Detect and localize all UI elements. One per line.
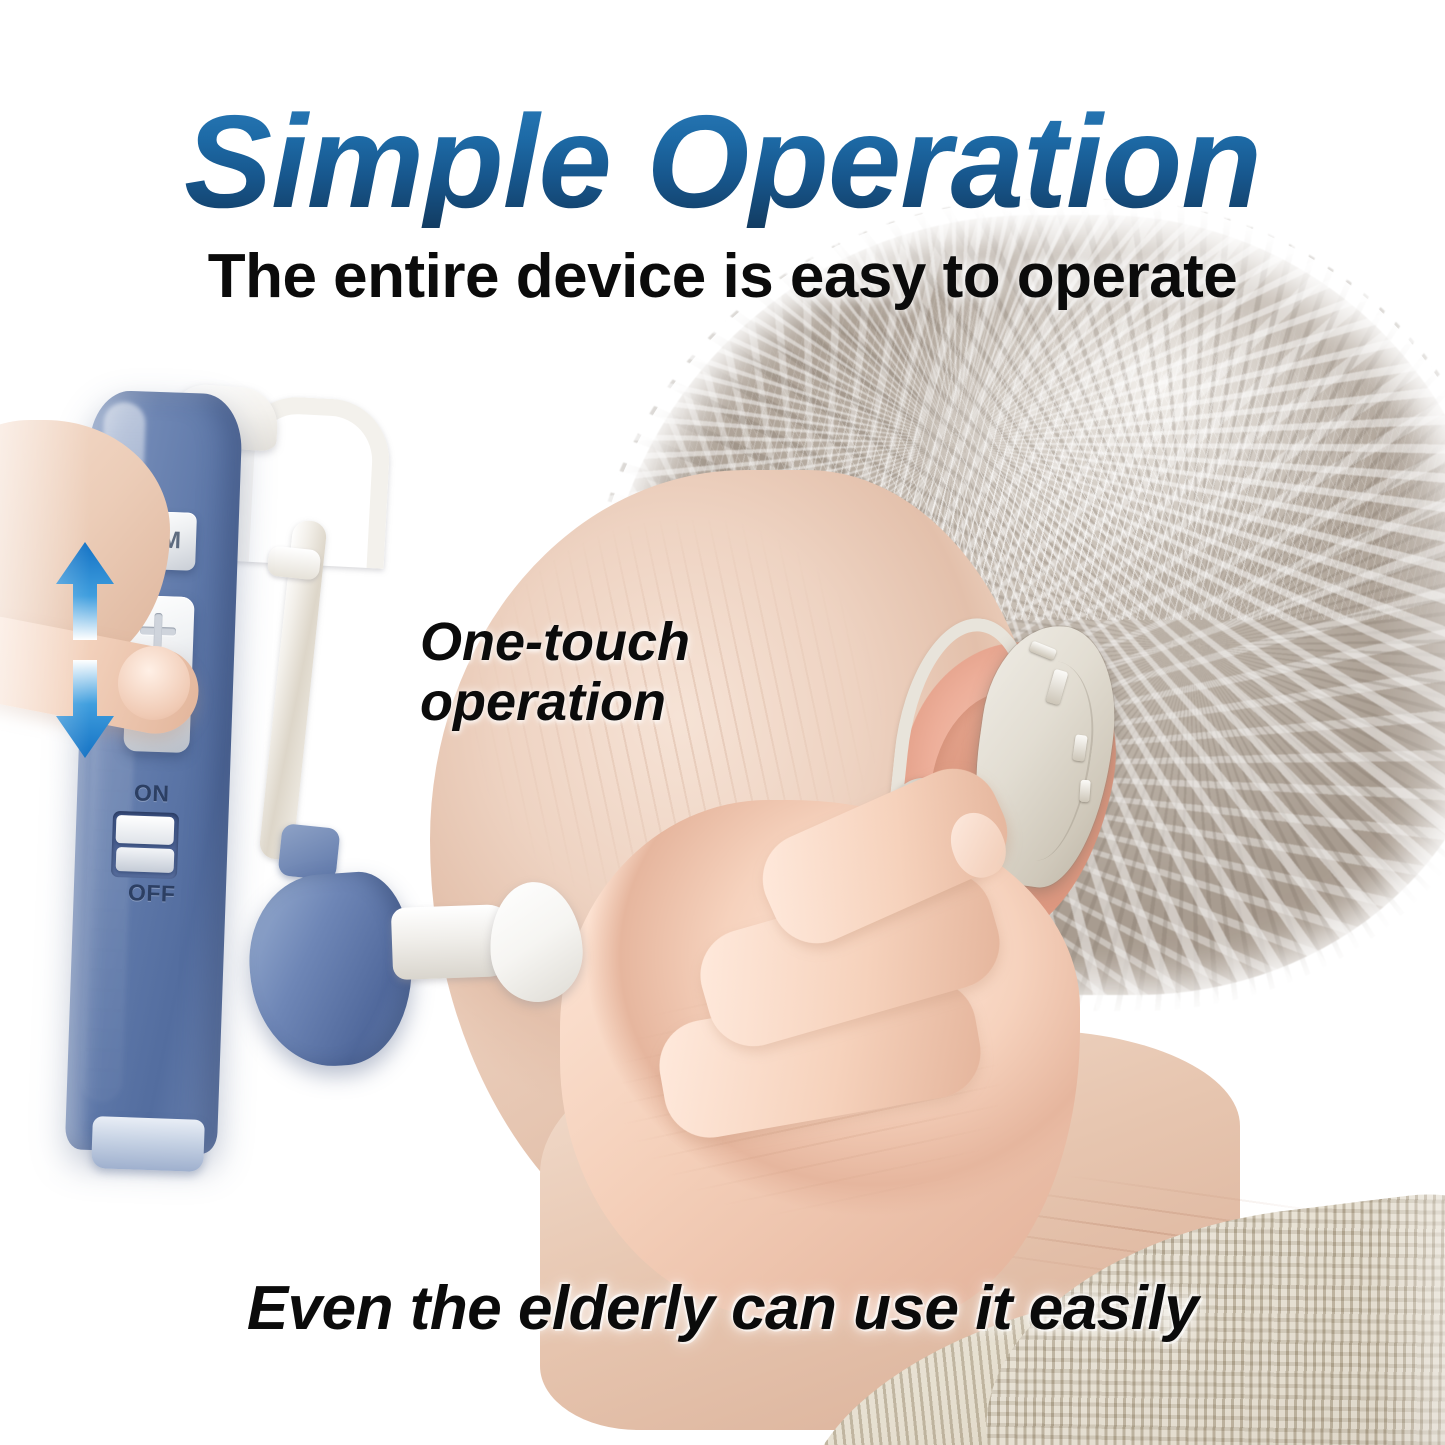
bte-control-button: [1079, 780, 1091, 803]
power-switch-knob[interactable]: [116, 815, 175, 845]
up-down-arrow-icon: [52, 540, 118, 760]
product-receiver: [244, 869, 419, 1072]
power-switch-knob[interactable]: [116, 847, 175, 873]
promo-banner: M ON OFF: [0, 0, 1445, 1445]
volume-up-icon: [153, 613, 162, 649]
switch-on-label: ON: [134, 779, 170, 807]
page-title: Simple Operation: [0, 96, 1445, 228]
callout-line-2: operation: [420, 672, 850, 732]
product-battery-door: [91, 1116, 205, 1172]
callout-one-touch: One-touch operation: [420, 612, 850, 733]
switch-off-label: OFF: [128, 879, 176, 908]
footer-caption: Even the elderly can use it easily: [0, 1278, 1445, 1340]
page-subtitle: The entire device is easy to operate: [0, 246, 1445, 308]
callout-line-1: One-touch: [420, 612, 690, 672]
product-tube-ring: [267, 545, 322, 580]
product-tube-cuff: [277, 823, 340, 881]
